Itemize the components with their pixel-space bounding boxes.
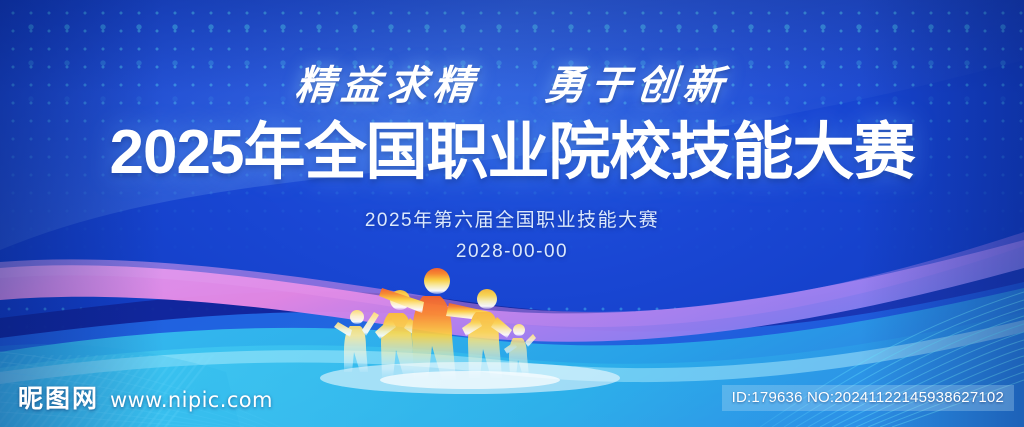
tagline-right: 勇于创新 [543, 62, 731, 109]
event-date: 2028-00-00 [0, 241, 1024, 263]
watermark-url: www.nipic.com [110, 388, 273, 412]
tagline: 精益求精 勇于创新 [0, 66, 1024, 106]
watermark-brand: 昵图网 [18, 379, 99, 415]
poster-canvas: 精益求精 勇于创新 2025年全国职业院校技能大赛 2025年第六届全国职业技能… [0, 0, 1024, 427]
image-id-tag: ID:179636 NO:20241122145938627102 [722, 385, 1014, 411]
tagline-left: 精益求精 [293, 62, 481, 109]
watermark: 昵图网 www.nipic.com [18, 379, 273, 415]
poster-text-block: 精益求精 勇于创新 2025年全国职业院校技能大赛 2025年第六届全国职业技能… [0, 0, 1024, 263]
subtitle: 2025年第六届全国职业技能大赛 [0, 205, 1024, 232]
page-title: 2025年全国职业院校技能大赛 [0, 120, 1024, 185]
